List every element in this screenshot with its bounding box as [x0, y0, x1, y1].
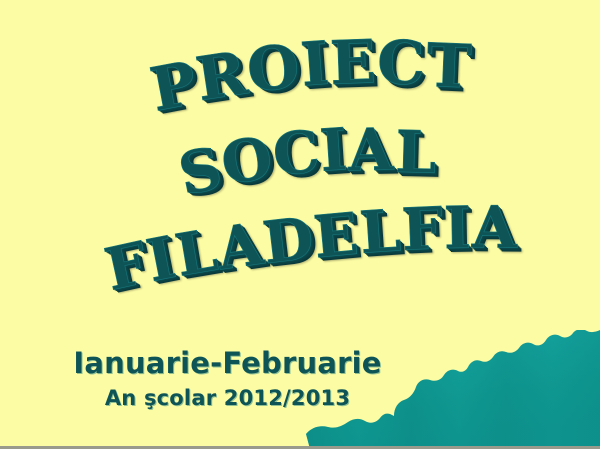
- subtitle-block: Ianuarie-Februarie An şcolar 2012/2013: [0, 348, 455, 410]
- title-glyph: I: [298, 29, 332, 101]
- title-glyph: C: [269, 117, 324, 190]
- title-glyph: S: [173, 134, 229, 209]
- title-glyph: O: [217, 123, 279, 198]
- title-glyph: T: [425, 31, 474, 103]
- title-glyph: A: [348, 116, 395, 185]
- title-glyph: F: [400, 194, 445, 264]
- wordart-title: PROIECT SOCIAL FILADELFIA: [0, 0, 600, 320]
- title-glyph: D: [259, 204, 318, 278]
- title-glyph: I: [318, 115, 351, 185]
- title-glyph: P: [145, 48, 204, 125]
- title-line-3: FILADELFIA: [102, 183, 521, 294]
- title-line-2: SOCIAL: [176, 107, 439, 197]
- title-glyph: E: [329, 27, 378, 99]
- title-glyph: O: [244, 31, 305, 107]
- title-glyph: A: [212, 210, 267, 284]
- title-glyph: R: [192, 38, 253, 115]
- title-glyph: C: [377, 29, 426, 99]
- subtitle-school-year: An şcolar 2012/2013: [0, 386, 455, 410]
- title-glyph: E: [311, 199, 362, 271]
- title-glyph: I: [141, 223, 182, 295]
- title-line-1: PROIECT: [148, 18, 474, 111]
- title-glyph: L: [394, 118, 438, 187]
- title-glyph: I: [443, 194, 472, 262]
- title-glyph: F: [99, 228, 155, 304]
- title-glyph: L: [357, 196, 403, 267]
- presentation-slide: PROIECT SOCIAL FILADELFIA Ianuarie-Febru…: [0, 0, 600, 449]
- subtitle-period: Ianuarie-Februarie: [0, 348, 455, 378]
- title-glyph: A: [472, 193, 519, 261]
- title-glyph: L: [170, 216, 223, 290]
